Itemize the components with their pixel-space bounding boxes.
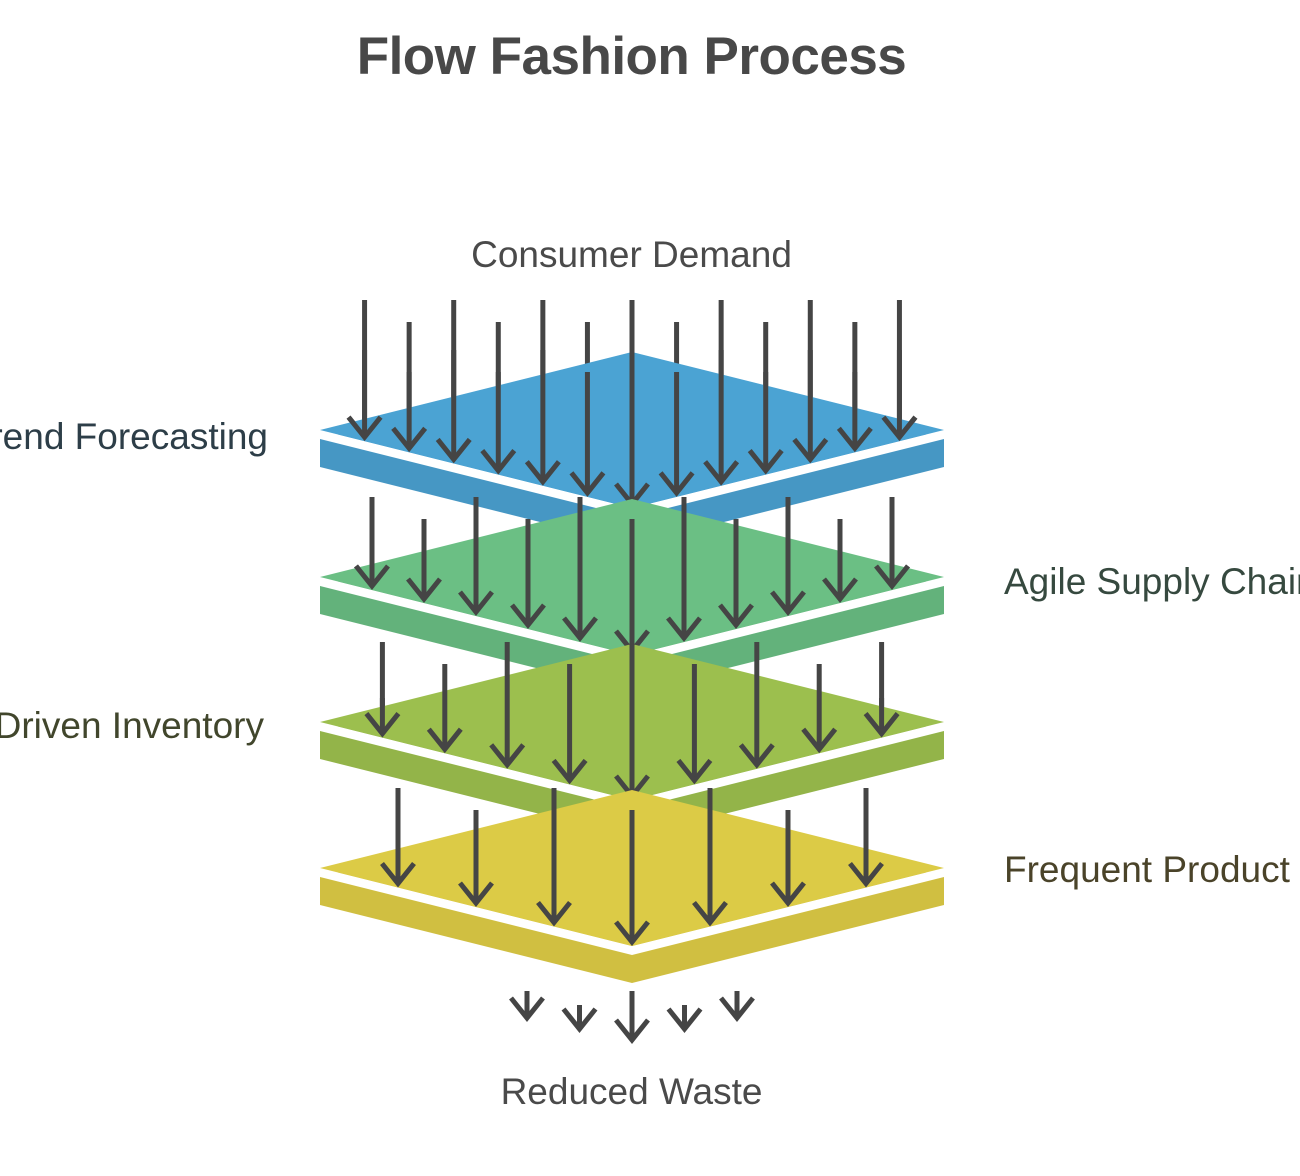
output-arrow (616, 991, 648, 1040)
output-arrow (669, 1005, 701, 1029)
layer-label-agile-supply-chain: Agile Supply Chain (1004, 563, 1300, 600)
flow-arrow-tip (876, 497, 908, 586)
output-label: Reduced Waste (0, 1073, 1263, 1110)
layer-label-data-driven-inventory: Data-Driven Inventory (0, 707, 264, 744)
flow-arrow-tip (850, 788, 882, 884)
diagram-canvas: Flow Fashion Process Consumer Demand Tre… (0, 0, 1300, 1176)
flow-arrow-tip (366, 642, 398, 734)
output-arrow-field (511, 991, 753, 1040)
flow-arrow-tip (356, 497, 388, 586)
output-arrow (721, 991, 753, 1018)
flow-arrow-tip (883, 350, 915, 437)
flow-arrow-tip (349, 350, 381, 437)
output-arrow (564, 1005, 596, 1029)
flow-arrow-tip (866, 642, 898, 734)
input-label: Consumer Demand (0, 236, 1263, 273)
flow-arrow-tip (382, 788, 414, 884)
layer-label-frequent-product-drops: Frequent Product Drops (1004, 851, 1300, 888)
output-arrow (511, 991, 543, 1018)
layer-label-trend-forecasting: Trend Forecasting (0, 418, 268, 455)
